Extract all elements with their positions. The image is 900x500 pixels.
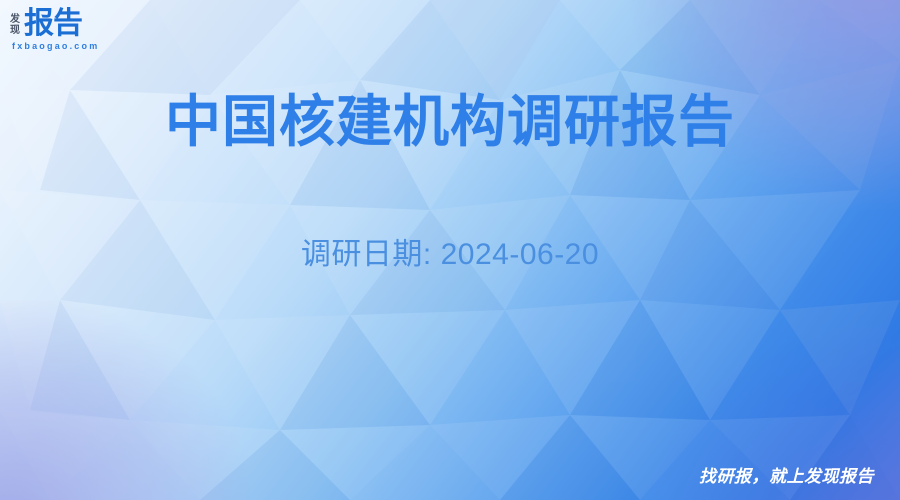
logo-prefix-bottom: 现 (10, 25, 20, 36)
logo-url-text: fxbaogao.com (10, 41, 99, 51)
logo-prefix-top: 发 (10, 14, 20, 25)
logo-prefix-stack: 发 现 (10, 14, 20, 39)
survey-date-subtitle: 调研日期: 2024-06-20 (0, 234, 900, 276)
logo-wordmark: 发 现 报告 (10, 8, 99, 39)
report-cover-slide: 发 现 报告 fxbaogao.com 中国核建机构调研报告 调研日期: 202… (0, 0, 900, 500)
logo-main-text: 报告 (24, 8, 82, 39)
brand-logo[interactable]: 发 现 报告 fxbaogao.com (10, 8, 99, 51)
page-title: 中国核建机构调研报告 (0, 88, 900, 156)
footer-tagline: 找研报，就上发现报告 (699, 466, 874, 488)
